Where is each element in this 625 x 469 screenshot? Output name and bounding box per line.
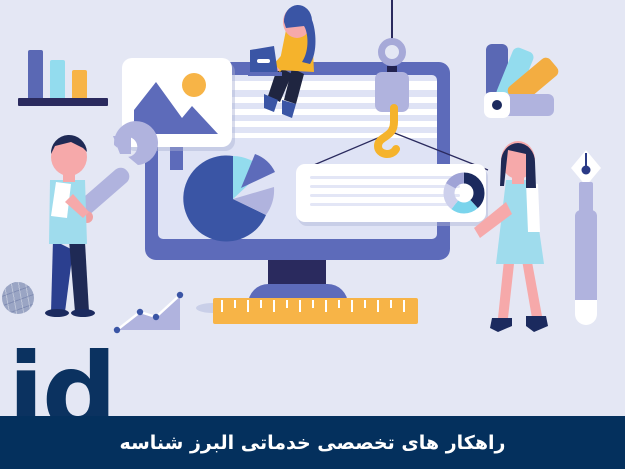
ruler-tick [299, 300, 301, 312]
ruler-tick [247, 300, 249, 312]
ruler-tick [260, 300, 262, 308]
ruler-tick [364, 300, 366, 308]
card-text-line [310, 203, 460, 206]
woman-holding-card [468, 140, 568, 340]
pen-nib-tip [582, 166, 591, 175]
man-leg-front [51, 240, 73, 312]
bar-3 [72, 70, 87, 98]
color-swatch-fan-icon [480, 42, 575, 122]
woman-leg-left [498, 260, 514, 318]
woman-leg-right [522, 260, 542, 318]
crane-hook-icon [374, 108, 418, 160]
ruler-tick [286, 300, 288, 308]
illustration-canvas: id راهکار های تخصصی خدماتی البرز شناسه [0, 0, 625, 469]
ruler-icon [213, 298, 418, 324]
bar-chart-baseline [18, 98, 108, 106]
ruler-tick [403, 300, 405, 312]
man-leg-back [69, 240, 89, 312]
pen-cap-end [575, 300, 597, 325]
ruler-tick [234, 300, 236, 308]
ruler-tick [325, 300, 327, 312]
woman-shoe-right [526, 316, 548, 332]
ruler-tick [377, 300, 379, 312]
data-point [177, 292, 183, 298]
monitor-neck [268, 258, 326, 286]
woman-shoe-left [490, 318, 512, 332]
crane-ring [378, 38, 406, 66]
ruler-tick [273, 300, 275, 312]
data-point [153, 314, 159, 320]
bar-1 [28, 50, 43, 98]
ruler-tick [351, 300, 353, 312]
swatch-dot [492, 100, 502, 110]
pen-neck [579, 182, 593, 214]
man-shoe-left [45, 309, 69, 317]
woman-with-laptop [248, 4, 343, 124]
card-text-line [310, 176, 460, 179]
bar-2 [50, 60, 65, 98]
ruler-tick [221, 300, 223, 312]
sun-icon [182, 73, 206, 97]
ruler-tick [338, 300, 340, 308]
man-with-wrench [25, 132, 150, 317]
card-text-line [310, 185, 460, 188]
woman-sleeve [526, 182, 540, 232]
corner-bar-chart [18, 36, 112, 106]
card-text-line [310, 194, 460, 197]
pie-slice-4 [241, 154, 275, 188]
crane-cable [391, 0, 393, 42]
ruler-tick [312, 300, 314, 308]
laptop-screen-mark [257, 59, 270, 63]
fountain-pen-icon [570, 148, 602, 333]
monitor-pie-exploded-slice [235, 150, 281, 196]
laptop-base [248, 72, 282, 76]
banner-title: راهکار های تخصصی خدماتی البرز شناسه [120, 432, 506, 454]
hook-curve [378, 108, 396, 154]
ruler-tick [390, 300, 392, 308]
bottom-banner: راهکار های تخصصی خدماتی البرز شناسه [0, 416, 625, 469]
man-shoe-right [71, 309, 95, 317]
